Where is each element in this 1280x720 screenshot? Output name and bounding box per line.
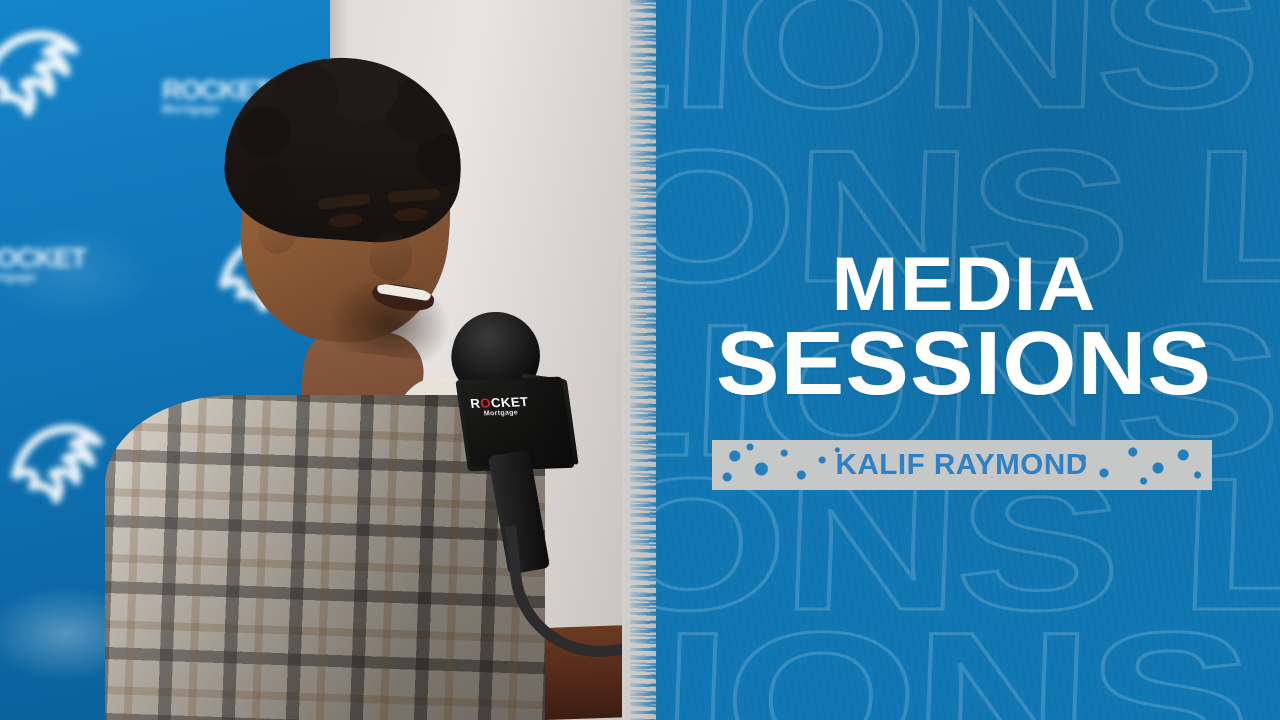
mic-brand-rest: CKET	[490, 394, 530, 410]
torn-edge-speckle	[630, 0, 656, 720]
subject-name: KALIF RAYMOND	[836, 449, 1088, 482]
title-panel: LIONS LIONS LIONS LIONS LIONS LIONS LION…	[648, 0, 1280, 720]
press-conference-photo: ROCKET Mortgage ROCKET Mortgage	[0, 0, 648, 720]
graphic-title: MEDIA SESSIONS	[648, 250, 1280, 406]
beard	[326, 269, 455, 363]
title-line-2: SESSIONS	[648, 323, 1280, 407]
microphone-sponsor-logo: ROCKET Mortgage	[468, 395, 531, 418]
title-line-1: MEDIA	[648, 250, 1280, 321]
media-sessions-graphic: ROCKET Mortgage ROCKET Mortgage	[0, 0, 1280, 720]
subject-name-banner: KALIF RAYMOND	[712, 440, 1212, 490]
